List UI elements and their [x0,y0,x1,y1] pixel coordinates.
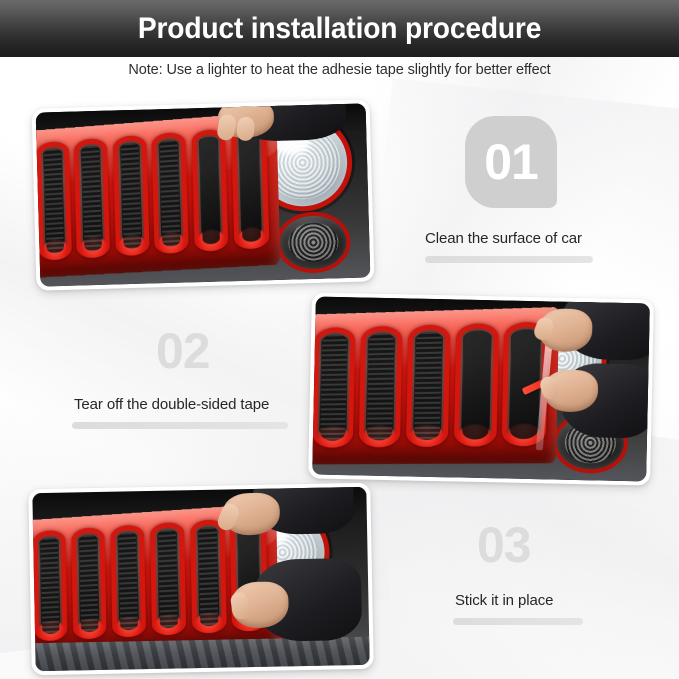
grille-slot [36,141,72,261]
grille-slots [312,322,548,449]
grille-slot [358,326,402,448]
grille-slot [231,126,269,250]
step-caption-3: Stick it in place [455,592,583,609]
grille-slots [32,517,267,642]
step-number-1: 01 [484,137,538,187]
step-photo-1-image [36,103,371,286]
step-photo-2-image [312,297,650,482]
grille-slot [32,530,67,641]
grille-slot [453,323,498,447]
step-caption-2: Tear off the double-sided tape [74,396,288,413]
header-banner: Product installation procedure [0,0,679,57]
step-photo-1 [32,99,375,290]
step-photo-3 [28,483,374,676]
grille-slot [71,528,107,640]
grille-slots [36,126,269,261]
step-badge-1: 01 [465,116,557,208]
step-caption-1: Clean the surface of car [425,230,593,247]
step-rule-1 [425,256,593,263]
grille-slot [405,325,450,448]
step-number-3: 03 [477,520,583,570]
grille-slot [110,525,146,638]
step-number-2: 02 [156,326,288,376]
step-rule-3 [453,618,583,625]
grille-slot [191,129,229,252]
grille-slot [74,138,110,259]
step-block-1: 01 Clean the surface of car [465,116,593,263]
step-block-2: 02 Tear off the double-sided tape [150,326,288,429]
grille-slot [112,135,149,256]
grille-scene-3 [32,487,369,671]
step-photo-3-image [32,487,369,671]
step-photo-2 [308,292,654,485]
grille-slot [149,522,186,635]
grille-panel [312,307,558,465]
step-rule-2 [72,422,288,429]
grille-slot [312,327,355,448]
grille-scene-1 [36,103,371,286]
road-surface [35,636,369,671]
grille-scene-2 [312,297,650,482]
step-block-3: 03 Stick it in place [477,520,583,625]
note-text: Note: Use a lighter to heat the adhesie … [0,62,679,78]
page-root: Product installation procedure Note: Use… [0,0,679,679]
grille-slot [151,132,188,254]
grille-slot [189,520,226,634]
page-title: Product installation procedure [138,14,541,44]
